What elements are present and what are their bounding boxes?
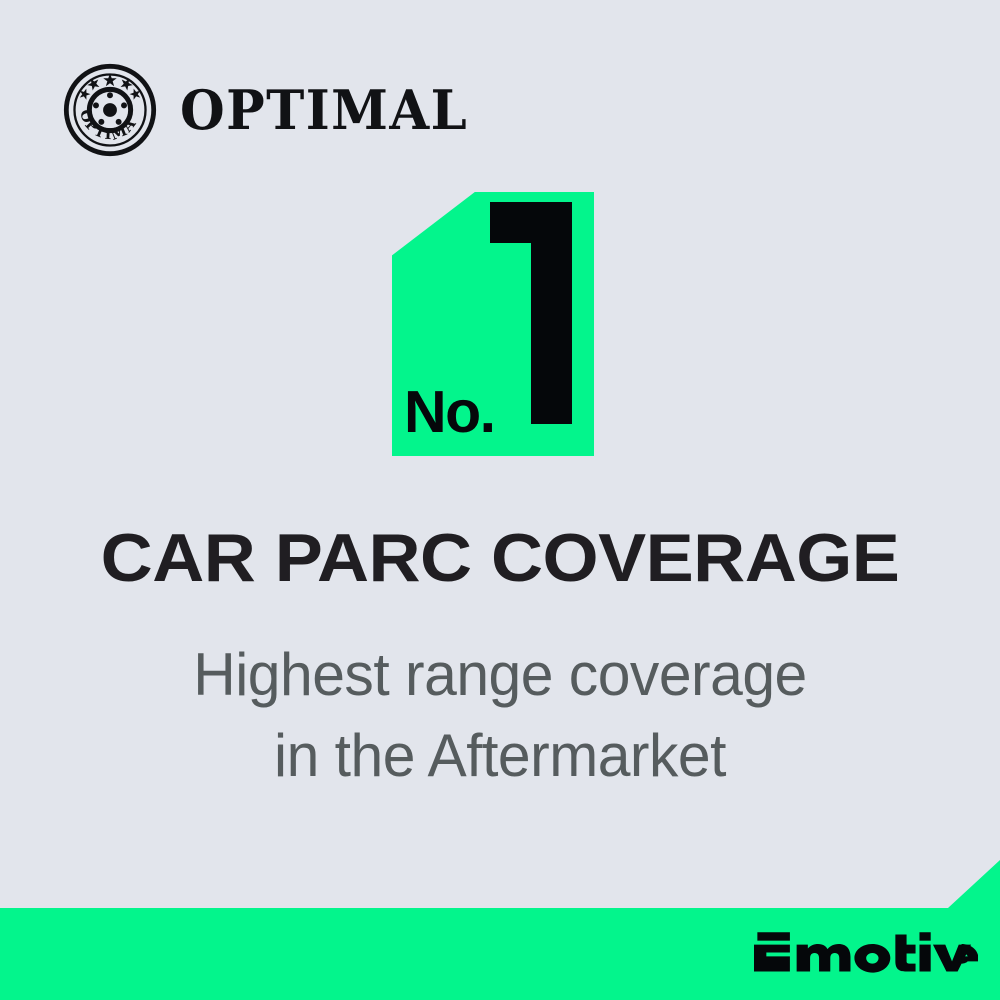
page-title: CAR PARC COVERAGE (0, 524, 1000, 592)
page-subtitle: Highest range coverage in the Aftermarke… (10, 634, 990, 796)
rank-badge: No. (392, 192, 594, 456)
emotive-logo (754, 930, 978, 976)
page-subtitle-line-1: Highest range coverage (10, 634, 990, 715)
page-subtitle-line-2: in the Aftermarket (10, 715, 990, 796)
brand-wordmark: OPTIMAL (180, 83, 468, 137)
optimal-wheel-emblem-icon: OPTIMAL (62, 62, 158, 158)
rank-prefix-label: No. (404, 383, 495, 442)
brand-lockup: OPTIMAL OPTIMAL (62, 62, 483, 158)
promo-poster: OPTIMAL OPTIMAL No. CAR PARC COVERAGE Hi… (0, 0, 1000, 1000)
footer-band (0, 860, 1000, 1000)
